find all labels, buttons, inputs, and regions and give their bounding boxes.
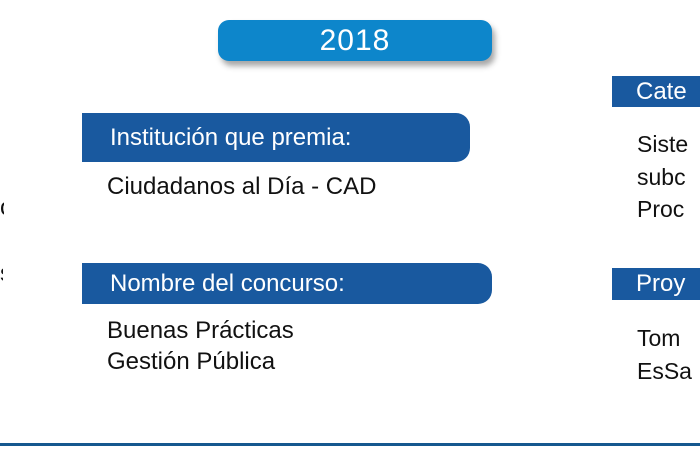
proyecto-heading-bar: Proy [612,268,700,300]
left-edge-text-fragment-lower: s [0,262,3,286]
concurso-heading-label: Nombre del concurso: [110,272,345,296]
categoria-value-text: Siste subc Proc [637,128,688,226]
year-badge: 2018 [218,20,492,61]
categoria-heading-bar: Cate [612,76,700,107]
institucion-value-text: Ciudadanos al Día - CAD [107,172,376,203]
proyecto-heading-label: Proy [636,272,685,296]
concurso-heading-bar: Nombre del concurso: [82,263,492,304]
year-badge-label: 2018 [320,26,391,56]
institucion-heading-bar: Institución que premia: [82,113,470,162]
concurso-value-text: Buenas Prácticas Gestión Pública [107,316,294,377]
left-edge-text-fragment-upper: o [0,196,4,220]
bottom-divider-rule [0,443,700,446]
categoria-heading-label: Cate [636,80,687,104]
proyecto-value-text: Tom EsSa [637,322,692,387]
slide-canvas: 2018 Institución que premia: Ciudadanos … [0,0,700,450]
institucion-heading-label: Institución que premia: [110,126,351,150]
